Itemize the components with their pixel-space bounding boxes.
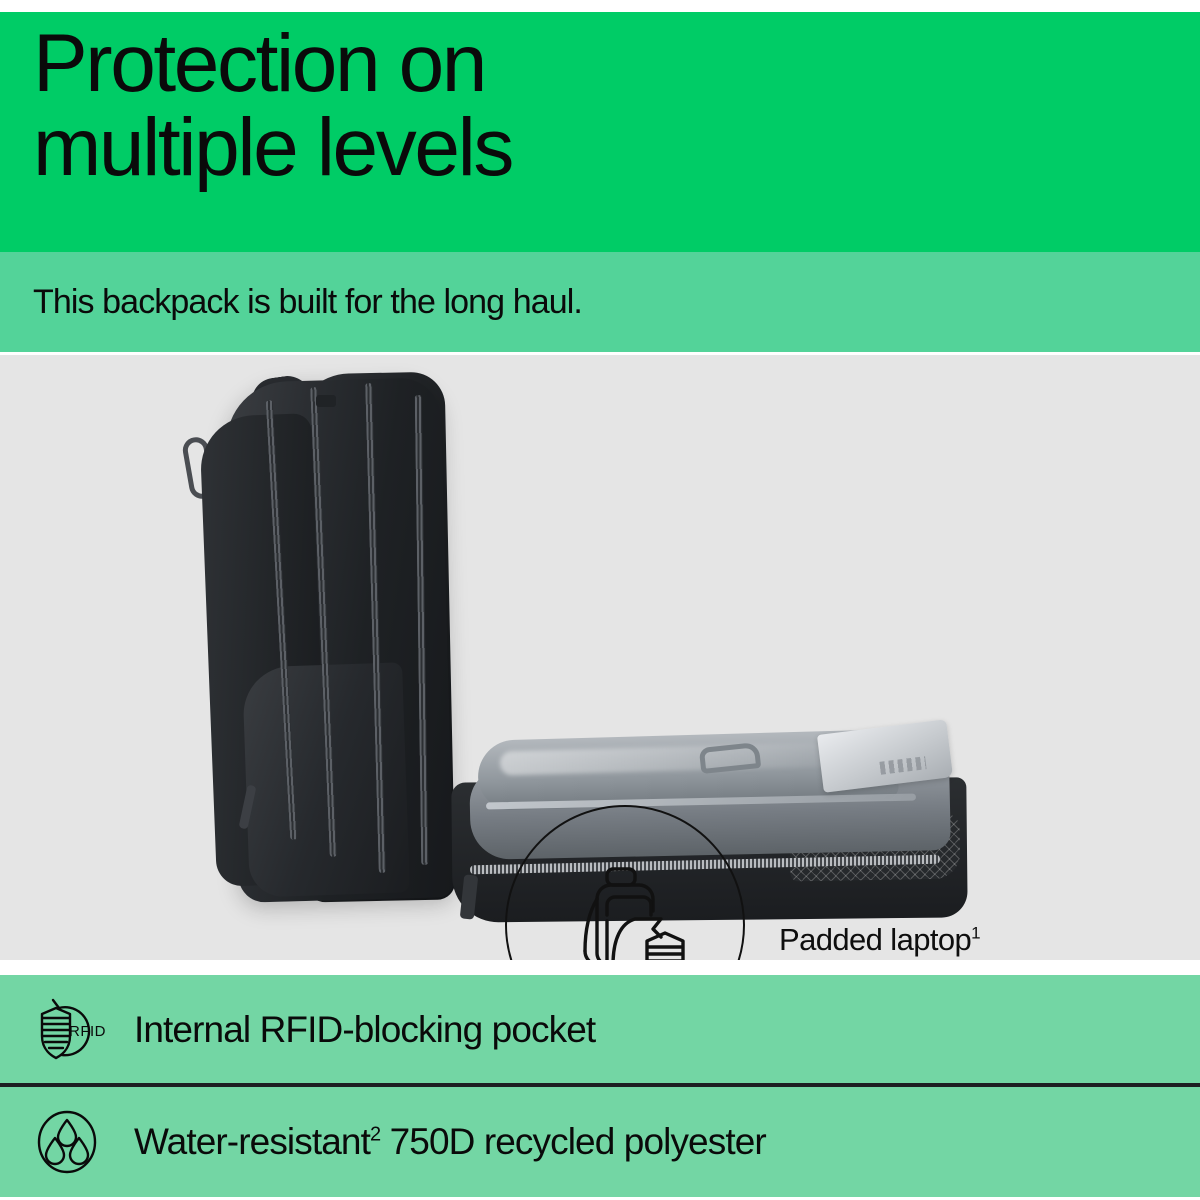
feature-footnote-marker: 2 [370,1124,380,1146]
callout-label-line1: Padded laptop [779,922,971,957]
product-feature-page: Protection on multiple levels This backp… [0,0,1200,1200]
rfid-shield-icon: RFID [28,991,106,1069]
page-title: Protection on multiple levels [33,22,933,189]
callout-footnote-marker: 1 [971,924,980,943]
header-band: Protection on multiple levels [0,12,1200,252]
callout-label: Padded laptop1 compartment [779,879,1119,960]
backpack-shield-icon [555,855,695,960]
feature-row-rfid: RFID Internal RFID-blocking pocket [0,975,1200,1085]
svg-text:RFID: RFID [69,1023,105,1040]
feature-label-water: Water-resistant2 750D recycled polyester [134,1121,766,1163]
water-droplets-icon [28,1103,106,1181]
backpack-tab [316,395,336,407]
feature-text: Water-resistant [134,1121,370,1162]
subtitle-text: This backpack is built for the long haul… [33,283,582,322]
feature-text: Internal RFID-blocking pocket [134,1009,595,1050]
feature-row-water: Water-resistant2 750D recycled polyester [0,1087,1200,1197]
product-photo: Padded laptop1 compartment [0,355,1200,960]
feature-label-rfid: Internal RFID-blocking pocket [134,1009,595,1051]
feature-text-suffix: 750D recycled polyester [380,1121,766,1162]
subtitle-band: This backpack is built for the long haul… [0,252,1200,352]
